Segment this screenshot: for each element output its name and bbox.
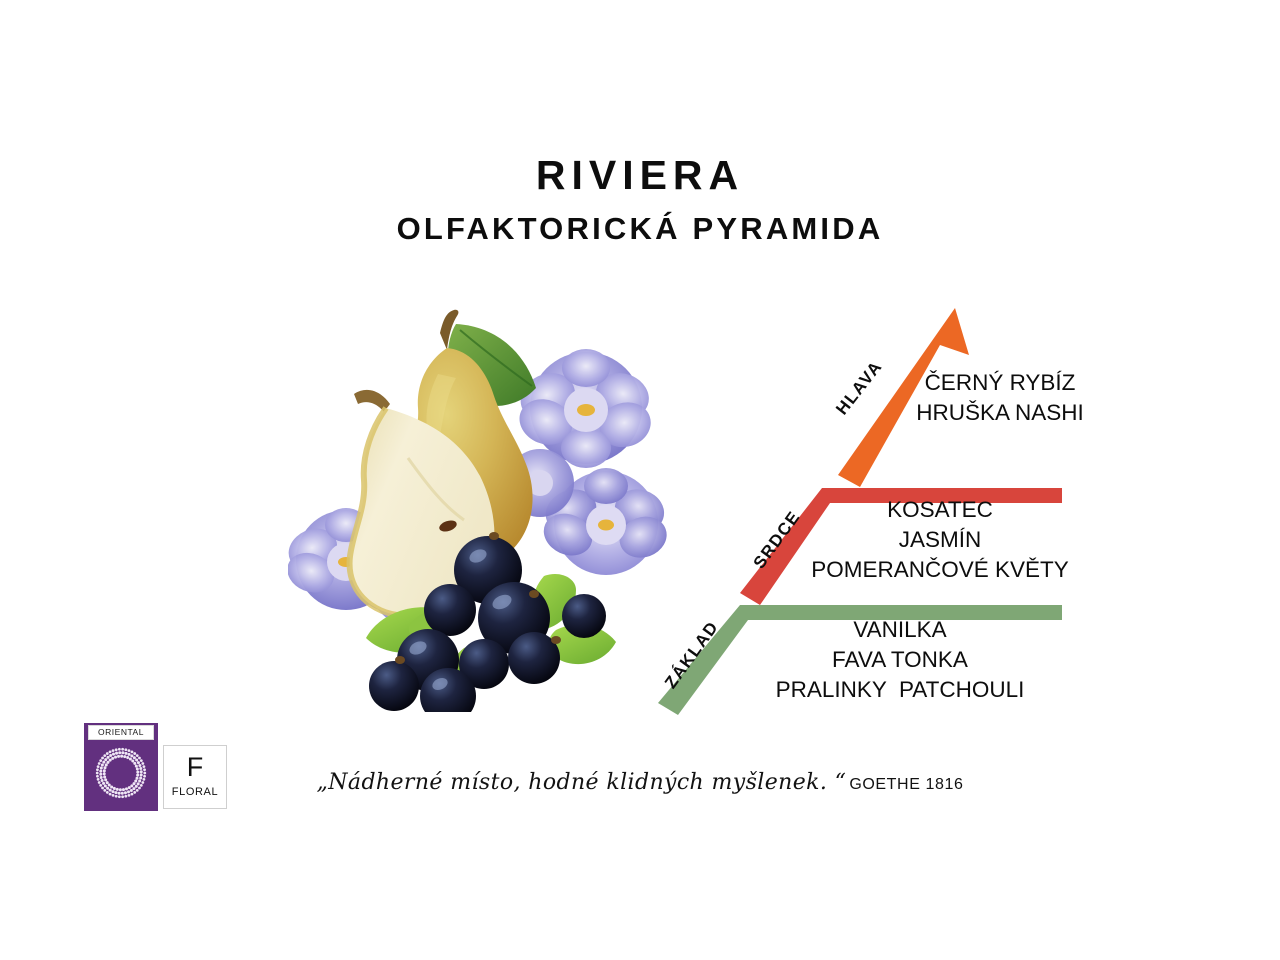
notes-base: VANILKA FAVA TONKA PRALINKY PATCHOULI <box>730 615 1070 705</box>
floral-family-label: FLORAL <box>164 786 226 798</box>
page-subtitle: OLFAKTORICKÁ PYRAMIDA <box>0 213 1280 244</box>
quote-text: „Nádherné místo, hodné klidných myšlenek… <box>316 770 846 795</box>
quote-author: GOETHE 1816 <box>849 776 963 793</box>
oriental-family-label: ORIENTAL <box>88 725 154 740</box>
floral-family-initial: F <box>164 754 226 781</box>
fragrance-family-badge: ORIENTAL F FLORAL <box>84 723 230 813</box>
olfactory-pyramid: HLAVA SRDCE ZÁKLAD ČERNÝ RYBÍZ HRUŠKA NA… <box>640 295 1080 725</box>
oriental-ring-emblem <box>92 744 150 802</box>
notes-top: ČERNÝ RYBÍZ HRUŠKA NASHI <box>890 368 1110 428</box>
oriental-family-tile: ORIENTAL <box>84 723 158 811</box>
title-block: RIVIERA OLFAKTORICKÁ PYRAMIDA <box>0 155 1280 244</box>
notes-heart: KOSATEC JASMÍN POMERANČOVÉ KVĚTY <box>810 495 1070 585</box>
fragrance-ingredients-illustration <box>288 308 684 712</box>
floral-family-tile: F FLORAL <box>163 745 227 809</box>
page-title: RIVIERA <box>0 155 1280 196</box>
